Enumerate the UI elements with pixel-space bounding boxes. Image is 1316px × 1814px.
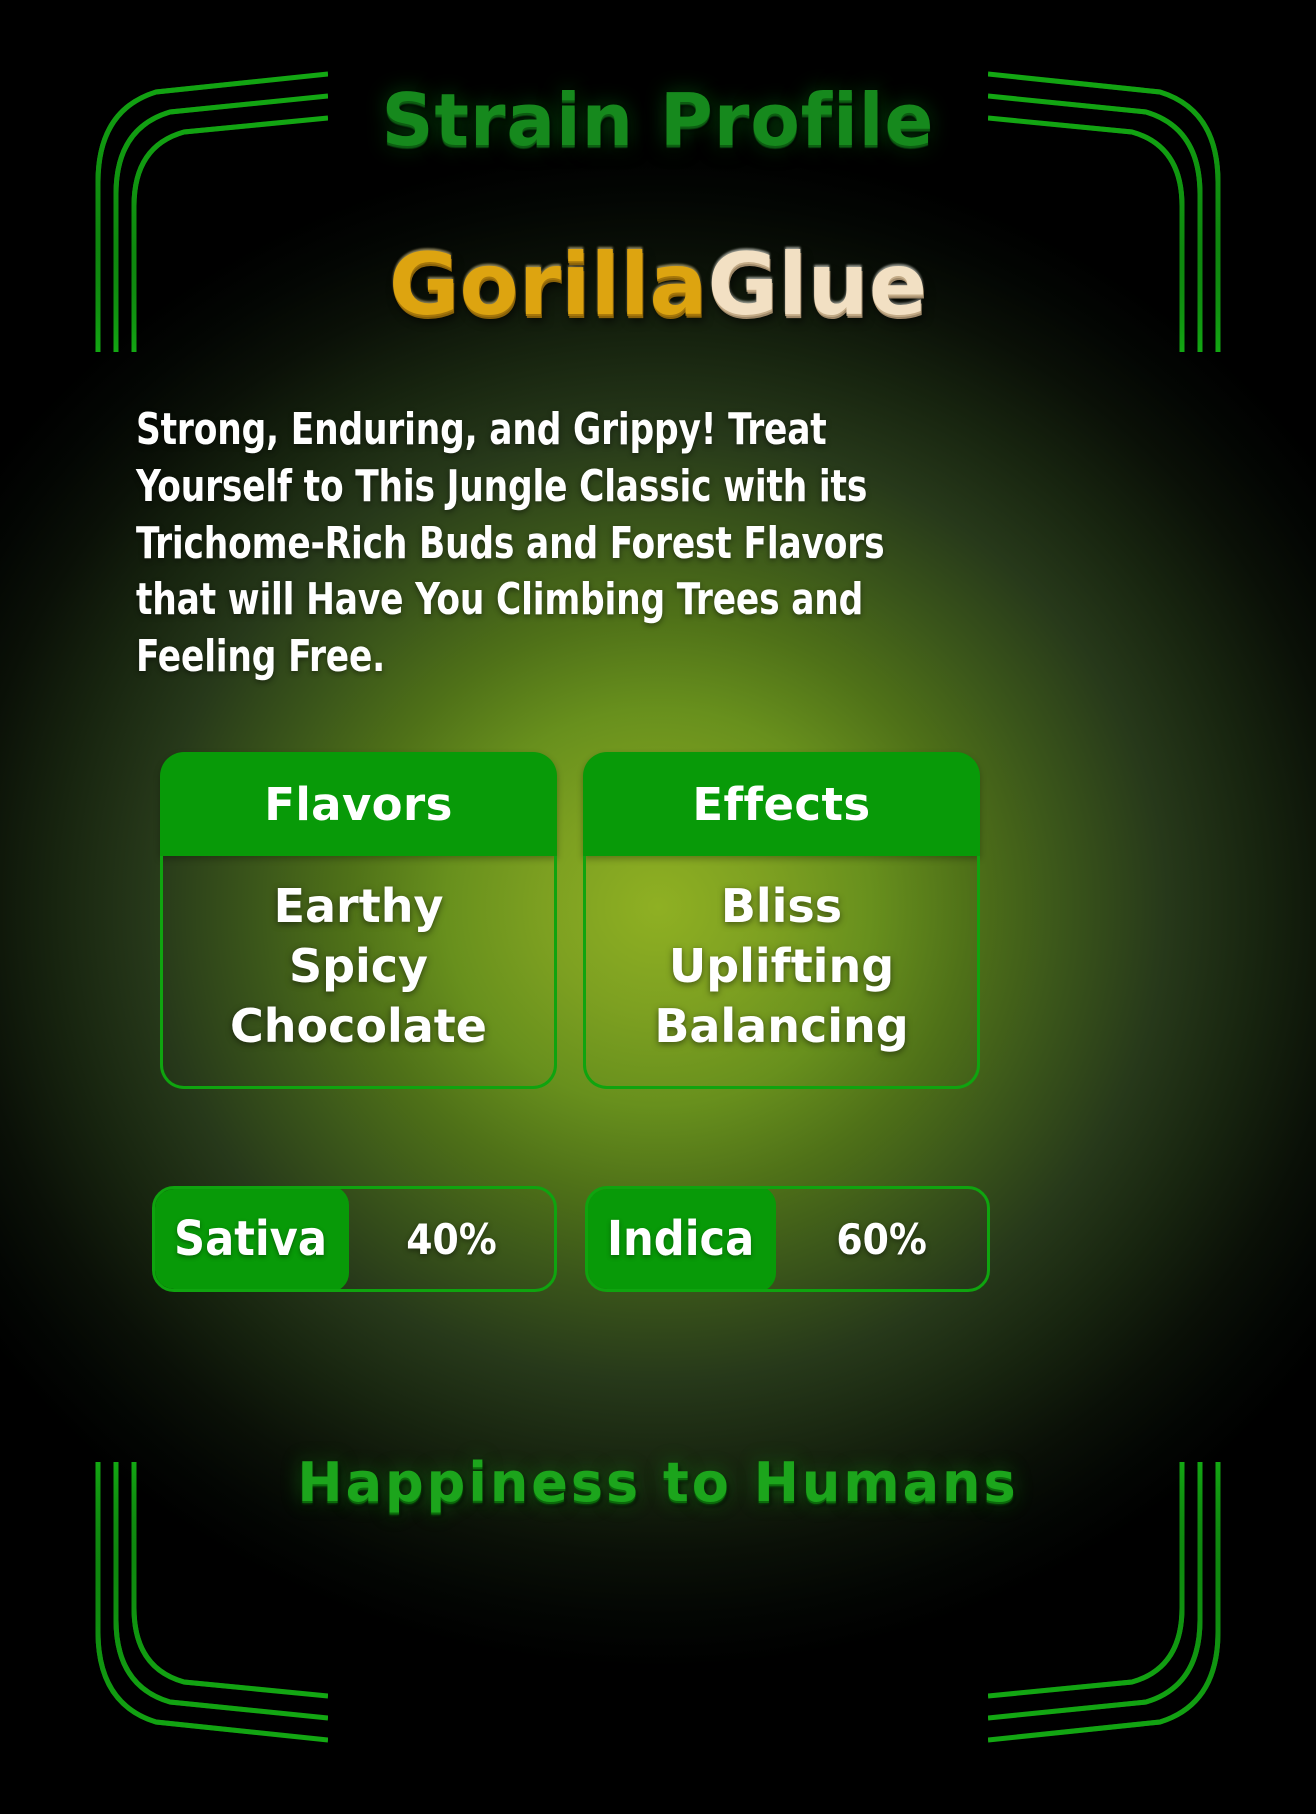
strain-name-secondary: Glue (707, 235, 927, 335)
list-item: Uplifting (669, 938, 894, 996)
indica-label: Indica (585, 1186, 776, 1292)
page-title: Strain Profile (0, 78, 1316, 162)
effects-card-title: Effects (583, 752, 980, 856)
flavors-card-body: Earthy Spicy Chocolate (160, 856, 557, 1089)
strain-name-primary: Gorilla (389, 235, 708, 335)
flavors-card: Flavors Earthy Spicy Chocolate (160, 752, 557, 1089)
footer-tagline: Happiness to Humans (0, 1451, 1316, 1514)
list-item: Balancing (654, 998, 908, 1056)
list-item: Chocolate (230, 998, 487, 1056)
strain-profile-poster: Strain Profile GorillaGlue Strong, Endur… (0, 0, 1316, 1814)
sativa-label: Sativa (152, 1186, 349, 1292)
strain-description: Strong, Enduring, and Grippy! Treat Your… (136, 402, 902, 686)
sativa-ratio-pill: Sativa 40% (152, 1186, 557, 1292)
effects-card-body: Bliss Uplifting Balancing (583, 856, 980, 1089)
list-item: Earthy (274, 878, 444, 936)
attribute-cards: Flavors Earthy Spicy Chocolate Effects B… (160, 752, 980, 1089)
indica-ratio-pill: Indica 60% (585, 1186, 990, 1292)
list-item: Spicy (289, 938, 428, 996)
flavors-card-title: Flavors (160, 752, 557, 856)
sativa-value: 40% (349, 1189, 554, 1289)
list-item: Bliss (721, 878, 842, 936)
effects-card: Effects Bliss Uplifting Balancing (583, 752, 980, 1089)
strain-name: GorillaGlue (0, 242, 1316, 328)
indica-value: 60% (776, 1189, 987, 1289)
genetics-ratio-row: Sativa 40% Indica 60% (152, 1186, 990, 1292)
